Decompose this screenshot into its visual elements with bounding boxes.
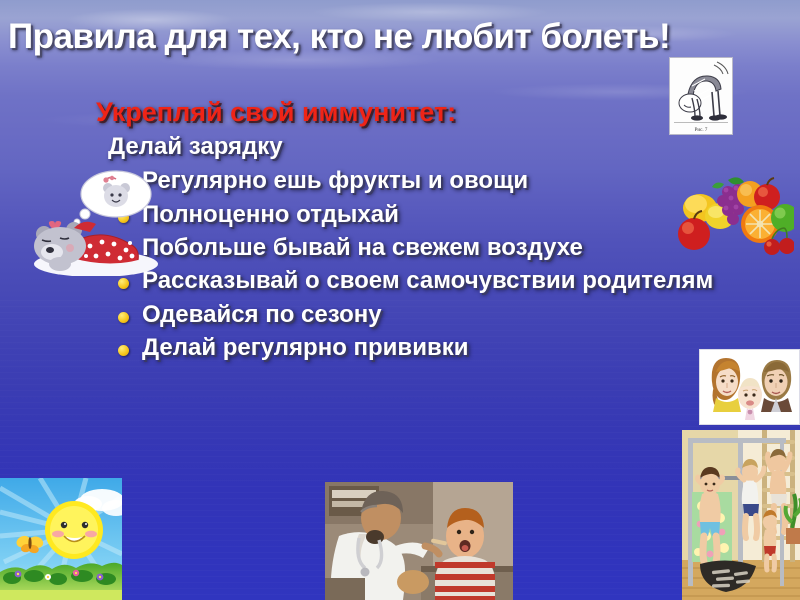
gym-photo-svg <box>682 430 800 600</box>
list-item-label: Рассказывай о своем самочувствии родител… <box>142 267 713 294</box>
bullet-dot-icon <box>118 278 129 289</box>
list-item: Рассказывай о своем самочувствии родител… <box>116 267 756 294</box>
children-gym-exercise-photo <box>682 430 800 600</box>
family-faces-svg <box>700 350 797 422</box>
list-item: Одевайся по сезону <box>116 301 756 328</box>
list-item-label: Регулярно ешь фрукты и овощи <box>142 167 528 194</box>
advice-bullet-list: Регулярно ешь фрукты и овощи Полноценно … <box>96 167 756 361</box>
list-item: Делай регулярно прививки <box>116 334 756 361</box>
family-faces-illustration <box>699 349 800 425</box>
figure-caption: Рис. 7 <box>670 128 732 133</box>
doctor-examining-boy-photo <box>325 482 513 600</box>
bullet-dot-icon <box>118 312 129 323</box>
fruits-cluster-illustration <box>666 168 794 260</box>
body-line-first: Делай зарядку <box>96 134 756 161</box>
fruits-cluster-svg <box>666 168 794 260</box>
slide-body: Укрепляй свой иммунитет: Делай зарядку Р… <box>96 98 756 367</box>
list-item-label: Полноценно отдыхай <box>142 201 399 228</box>
list-item-label: Побольше бывай на свежем воздухе <box>142 234 583 261</box>
sunny-meadow-illustration <box>0 478 122 600</box>
sleeping-bear-illustration <box>30 168 162 276</box>
exercise-figure-drawing: Рис. 7 <box>669 57 733 135</box>
bullet-dot-icon <box>118 345 129 356</box>
list-item-label: Одевайся по сезону <box>142 301 382 328</box>
slide-title: Правила для тех, кто не любит болеть! <box>8 17 768 57</box>
list-item: Побольше бывай на свежем воздухе <box>116 234 756 261</box>
caption-divider <box>674 122 728 123</box>
list-item: Полноценно отдыхай <box>116 201 756 228</box>
section-heading: Укрепляй свой иммунитет: <box>96 98 756 126</box>
sunny-meadow-svg <box>0 478 122 600</box>
list-item: Регулярно ешь фрукты и овощи <box>116 167 756 194</box>
sleeping-bear-svg <box>30 168 162 276</box>
presentation-slide: Правила для тех, кто не любит болеть! Ук… <box>0 0 800 600</box>
list-item-label: Делай регулярно прививки <box>142 334 468 361</box>
doctor-photo-svg <box>325 482 513 600</box>
